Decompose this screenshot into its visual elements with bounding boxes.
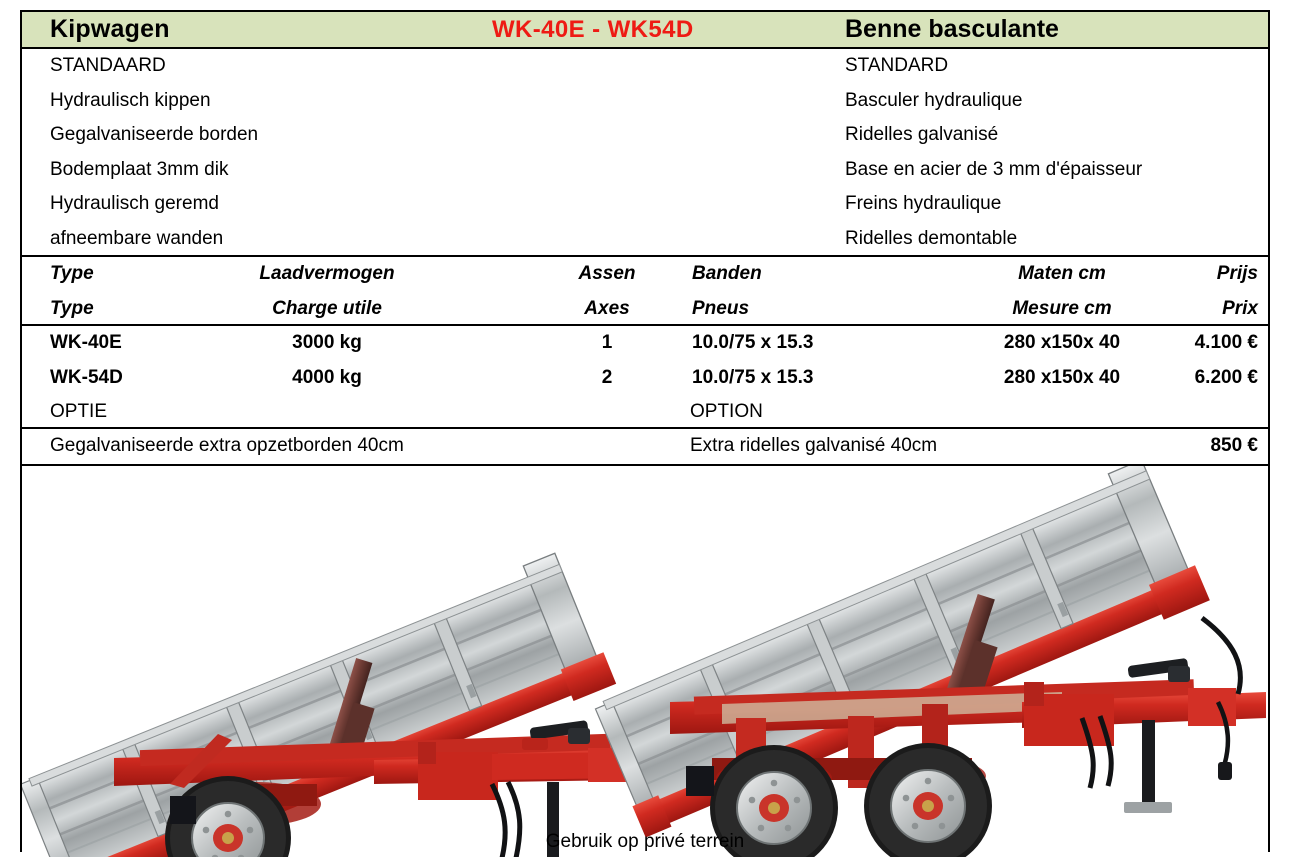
col-header-load: Laadvermogen (212, 257, 442, 292)
feature-item: Freins hydraulique (845, 187, 1296, 222)
feature-item: Basculer hydraulique (845, 84, 1296, 119)
col-header-dimensions: Maten cm (962, 257, 1162, 292)
standard-features-fr: STANDARD Basculer hydraulique Ridelles g… (845, 49, 1296, 256)
spec-header-row-fr: Type Charge utile Axes Pneus Mesure cm P… (22, 292, 1268, 327)
table-row: WK-54D 4000 kg 2 10.0/75 x 15.3 280 x150… (22, 361, 1268, 396)
table-row: WK-40E 3000 kg 1 10.0/75 x 15.3 280 x150… (22, 326, 1268, 361)
standard-features-nl: STANDAARD Hydraulisch kippen Gegalvanise… (50, 49, 610, 256)
page-title-fr: Benne basculante (845, 15, 1059, 44)
col-header-axles: Assen (552, 257, 662, 292)
cell-price: 4.100 € (1160, 326, 1258, 361)
cell-tyres: 10.0/75 x 15.3 (692, 326, 922, 361)
cell-load: 3000 kg (212, 326, 442, 361)
spec-table-body: WK-40E 3000 kg 1 10.0/75 x 15.3 280 x150… (22, 326, 1268, 395)
option-label-nl: OPTIE (50, 395, 107, 428)
cell-dimensions: 280 x150x 40 (962, 361, 1162, 396)
feature-item: Hydraulisch geremd (50, 187, 610, 222)
col-header-tyres: Banden (692, 257, 922, 292)
spec-table-header: Type Laadvermogen Assen Banden Maten cm … (22, 257, 1268, 326)
col-header-axles-fr: Axes (552, 292, 662, 327)
title-band: Kipwagen WK-40E - WK54D Benne basculante (22, 12, 1268, 49)
cell-type: WK-54D (50, 361, 230, 396)
feature-item: STANDARD (845, 49, 1296, 84)
cell-axles: 2 (552, 361, 662, 396)
feature-item: Bodemplaat 3mm dik (50, 153, 610, 188)
col-header-type: Type (50, 257, 230, 292)
hitch-right (1127, 658, 1190, 682)
cell-load: 4000 kg (212, 361, 442, 396)
col-header-price: Prijs (1160, 257, 1258, 292)
feature-item: afneembare wanden (50, 222, 610, 257)
cell-price: 6.200 € (1160, 361, 1258, 396)
feature-item: Ridelles galvanisé (845, 118, 1296, 153)
col-header-tyres-fr: Pneus (692, 292, 922, 327)
option-item-nl: Gegalvaniseerde extra opzetborden 40cm (50, 429, 404, 462)
standard-features-block: STANDAARD Hydraulisch kippen Gegalvanise… (22, 49, 1268, 257)
spec-sheet: Kipwagen WK-40E - WK54D Benne basculante… (20, 10, 1270, 852)
col-header-load-fr: Charge utile (212, 292, 442, 327)
option-item-row: Gegalvaniseerde extra opzetborden 40cm E… (22, 429, 1268, 466)
product-photo: Gebruik op privé terrein (22, 466, 1268, 857)
cell-axles: 1 (552, 326, 662, 361)
option-item-fr: Extra ridelles galvanisé 40cm (690, 429, 937, 462)
cell-tyres: 10.0/75 x 15.3 (692, 361, 922, 396)
trailer-right (586, 466, 1266, 857)
feature-item: Gegalvaniseerde borden (50, 118, 610, 153)
cell-type: WK-40E (50, 326, 230, 361)
feature-item: Hydraulisch kippen (50, 84, 610, 119)
option-label-fr: OPTION (690, 395, 763, 428)
feature-item: Base en acier de 3 mm d'épaisseur (845, 153, 1296, 188)
parking-jack-right (1124, 720, 1172, 813)
spec-header-row-nl: Type Laadvermogen Assen Banden Maten cm … (22, 257, 1268, 292)
feature-item: STANDAARD (50, 49, 610, 84)
option-header-row: OPTIE OPTION (22, 395, 1268, 429)
model-codes: WK-40E - WK54D (492, 16, 694, 44)
option-price: 850 € (1160, 429, 1258, 462)
feature-item: Ridelles demontable (845, 222, 1296, 257)
col-header-type-fr: Type (50, 292, 230, 327)
trailers-illustration (22, 466, 1268, 857)
col-header-price-fr: Prix (1160, 292, 1258, 327)
cell-dimensions: 280 x150x 40 (962, 326, 1162, 361)
photo-caption: Gebruik op privé terrein (22, 831, 1268, 853)
page-title-nl: Kipwagen (50, 15, 170, 44)
col-header-dimensions-fr: Mesure cm (962, 292, 1162, 327)
